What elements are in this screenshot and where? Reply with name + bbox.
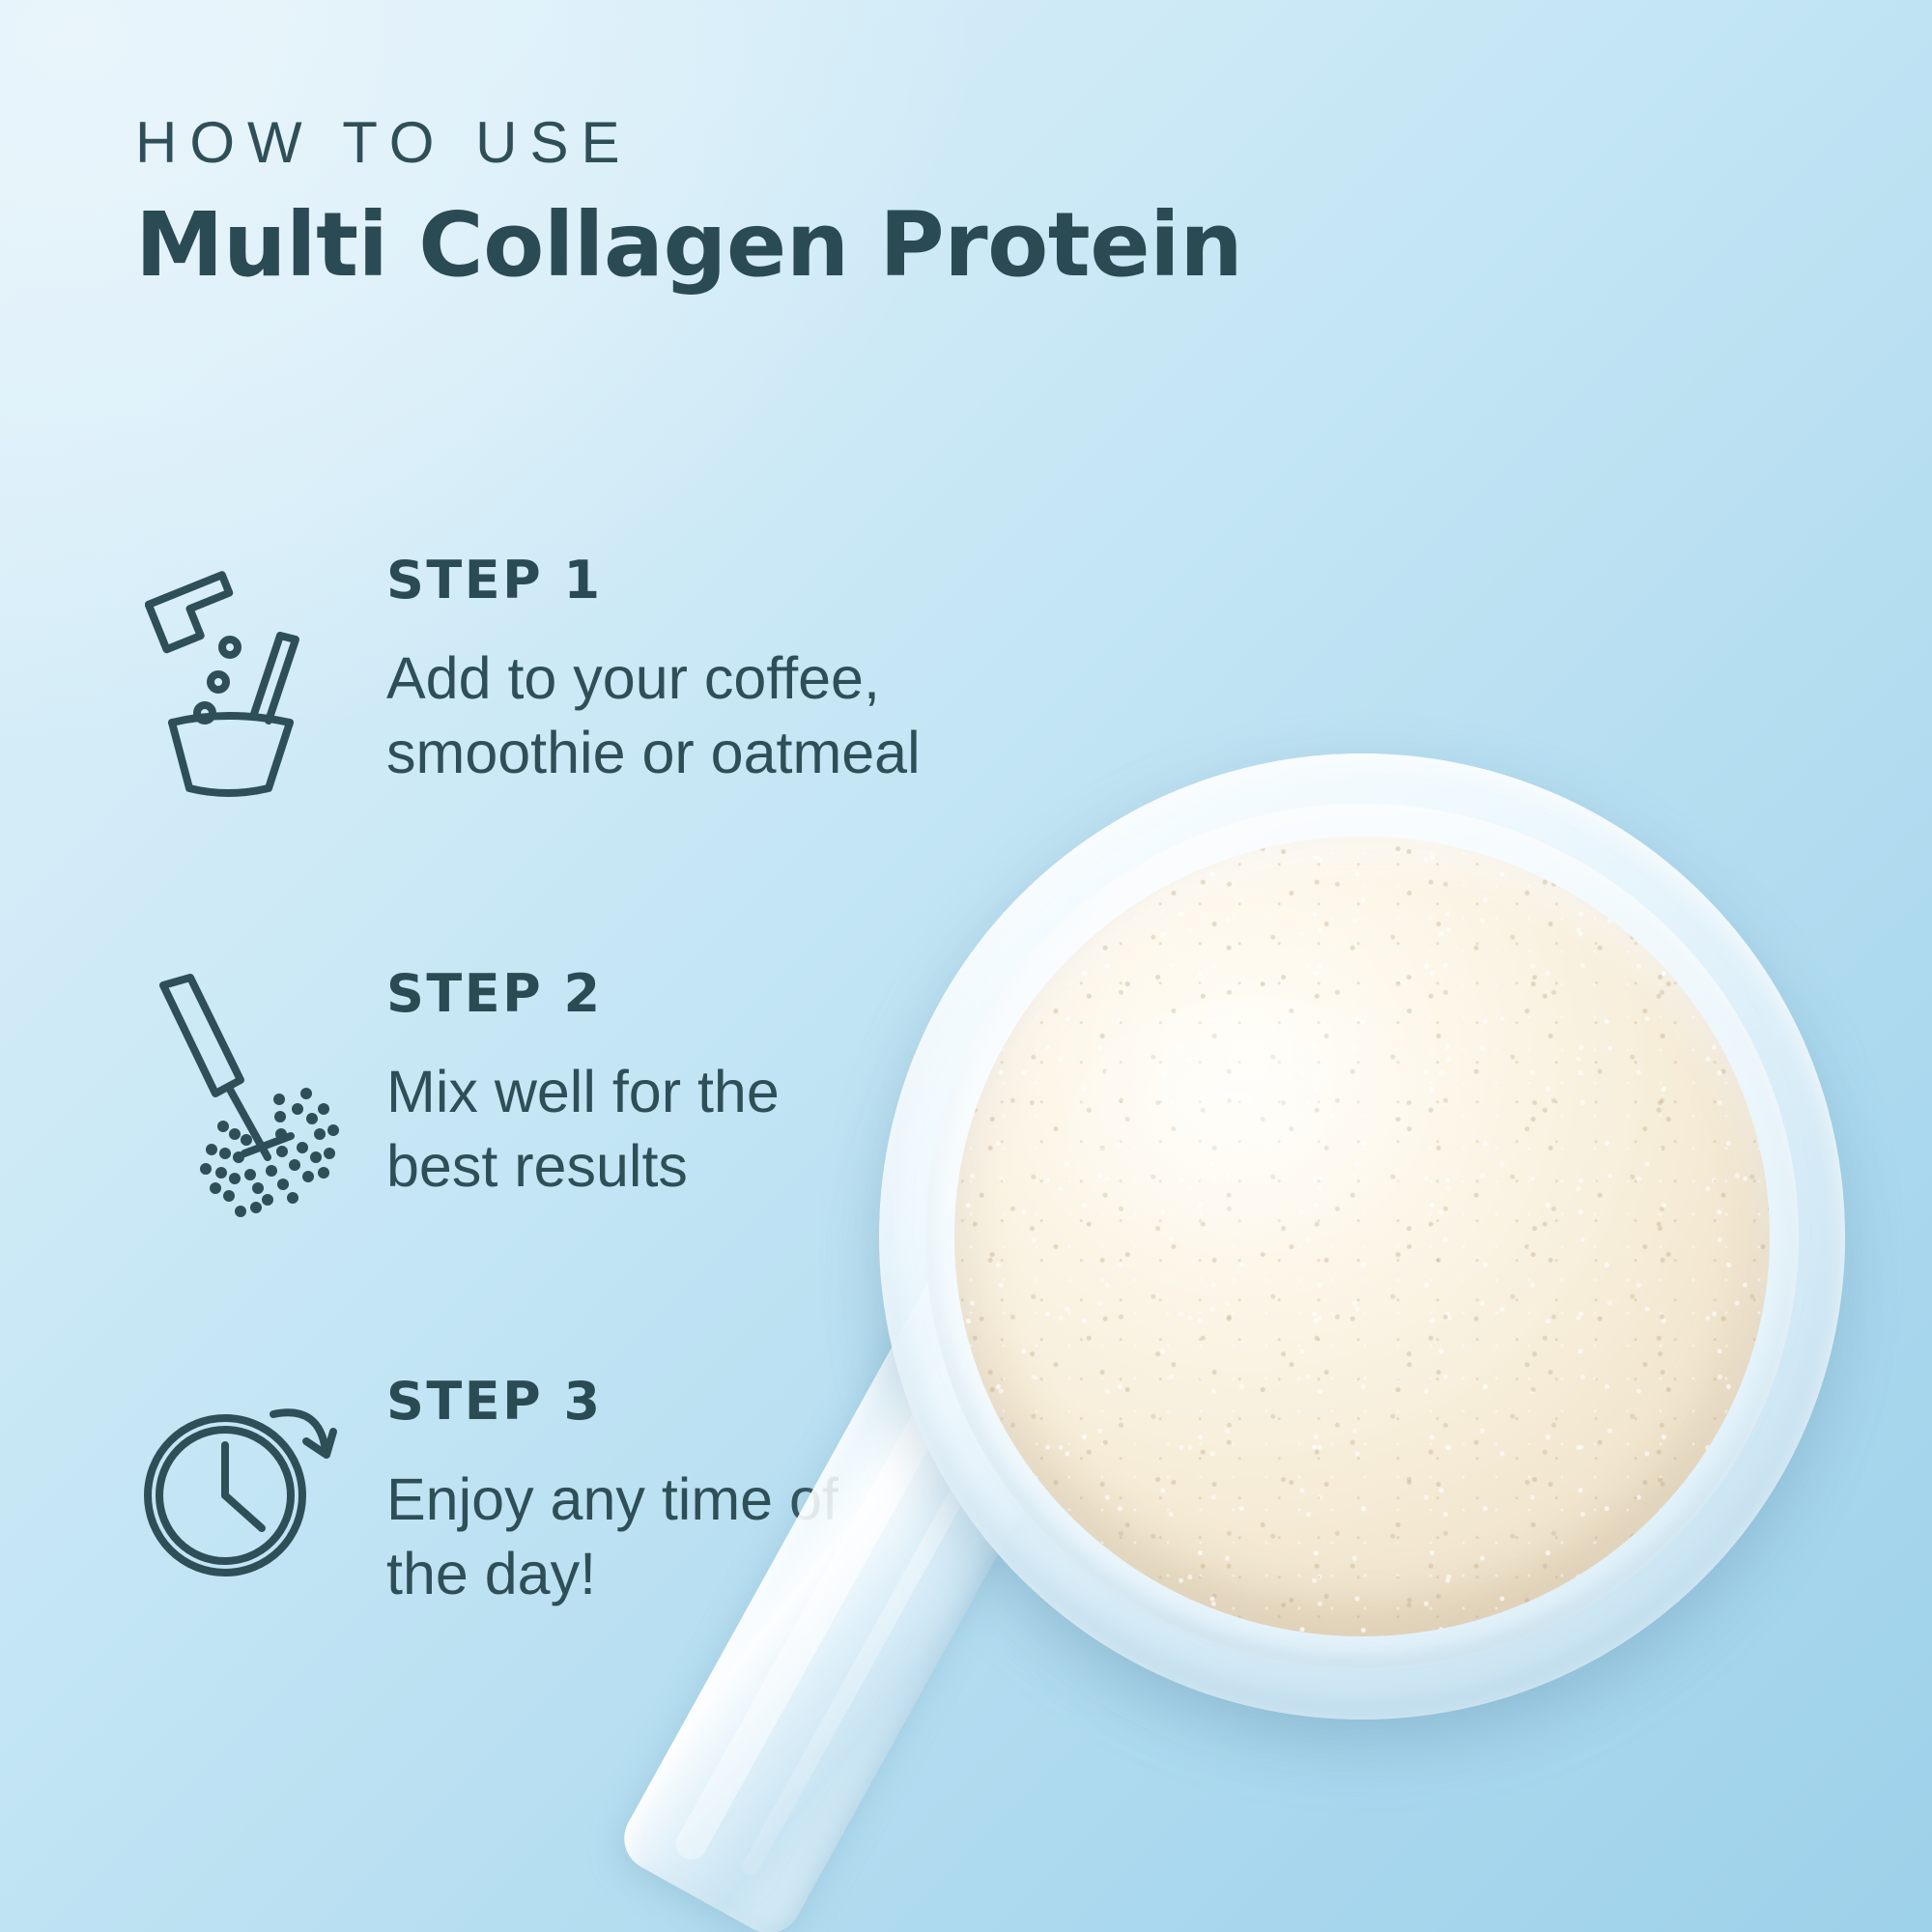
step-1-desc-line-1: Add to your coffee,: [386, 641, 921, 716]
step-2-label: STEP 2: [386, 968, 780, 1020]
page-title: Multi Collagen Protein: [135, 199, 1242, 293]
step-3-icon-slot: [126, 1362, 357, 1662]
clock-with-circular-arrow-icon: [140, 1372, 343, 1594]
step-3-description: Enjoy any time of the day!: [386, 1463, 838, 1611]
step-1-label: STEP 1: [386, 554, 921, 607]
glass-with-straw-and-powder-packet-icon: [145, 551, 338, 802]
eyebrow-text: HOW TO USE: [135, 114, 1242, 172]
stirrer-with-splash-icon: [140, 964, 343, 1225]
steps-list: STEP 1 Add to your coffee, smoothie or o…: [126, 541, 1092, 1662]
step-item-3: STEP 3 Enjoy any time of the day!: [126, 1362, 1092, 1662]
step-3-desc-line-1: Enjoy any time of: [386, 1463, 838, 1537]
powder-highlight: [1068, 997, 1443, 1269]
step-item-1: STEP 1 Add to your coffee, smoothie or o…: [126, 541, 1092, 840]
step-2-desc-line-1: Mix well for the: [386, 1055, 780, 1129]
step-1-icon-slot: [126, 541, 357, 840]
step-1-desc-line-2: smoothie or oatmeal: [386, 716, 921, 790]
header: HOW TO USE Multi Collagen Protein: [135, 114, 1242, 293]
step-item-2: STEP 2 Mix well for the best results: [126, 954, 1092, 1254]
step-1-description: Add to your coffee, smoothie or oatmeal: [386, 641, 921, 790]
step-2-text: STEP 2 Mix well for the best results: [386, 954, 780, 1204]
step-2-icon-slot: [126, 954, 357, 1254]
step-1-text: STEP 1 Add to your coffee, smoothie or o…: [386, 541, 921, 790]
step-2-desc-line-2: best results: [386, 1129, 780, 1204]
step-3-text: STEP 3 Enjoy any time of the day!: [386, 1362, 838, 1611]
infographic-canvas: HOW TO USE Multi Collagen Protein: [0, 0, 1932, 1932]
step-2-description: Mix well for the best results: [386, 1055, 780, 1204]
step-3-desc-line-2: the day!: [386, 1537, 838, 1611]
step-3-label: STEP 3: [386, 1376, 838, 1428]
